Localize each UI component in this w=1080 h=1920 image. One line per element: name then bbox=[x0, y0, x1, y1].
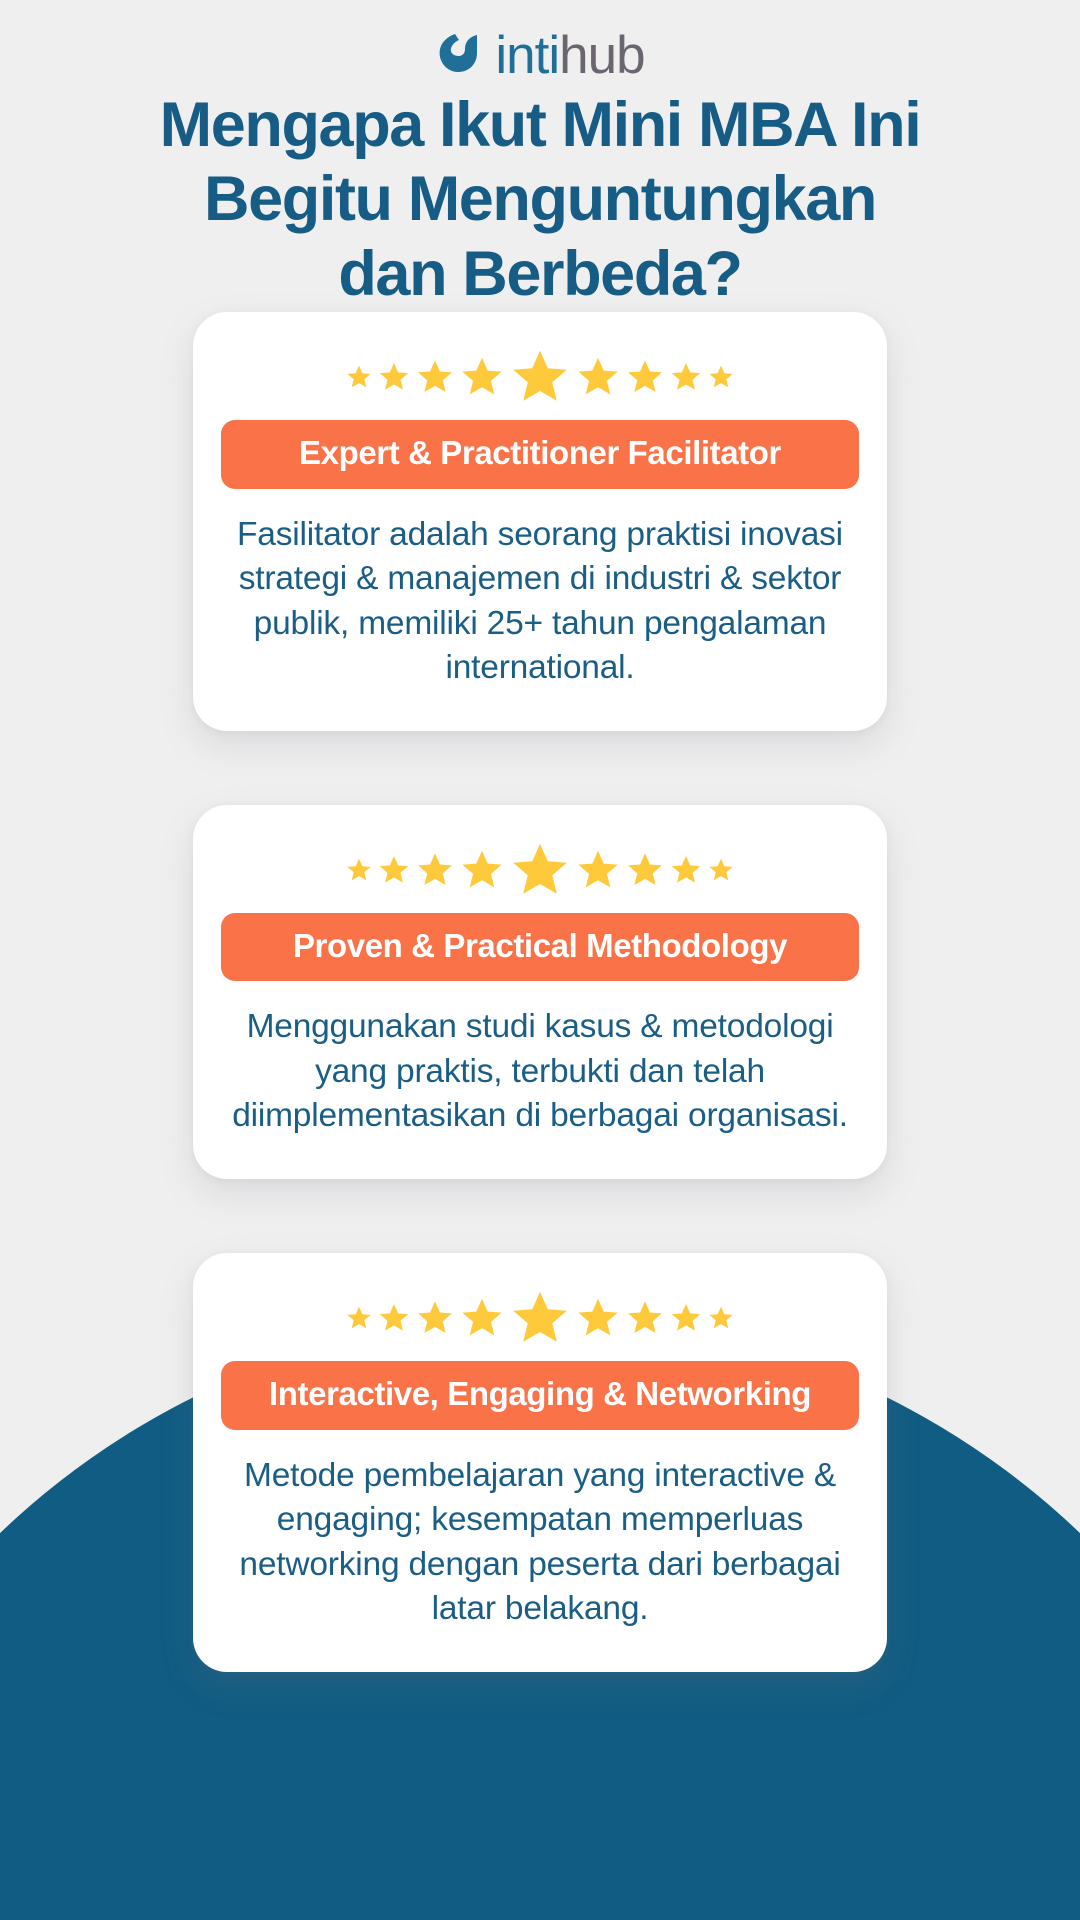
star-icon bbox=[708, 1305, 734, 1331]
star-icon bbox=[346, 857, 372, 883]
star-icon bbox=[346, 364, 372, 390]
benefit-description: Fasilitator adalah seorang praktisi inov… bbox=[221, 513, 859, 691]
brand-logo-inti: inti bbox=[495, 29, 559, 82]
star-icon bbox=[708, 364, 734, 390]
star-rating bbox=[346, 839, 734, 901]
headline-line-2: Begitu Menguntungkan bbox=[204, 164, 876, 234]
star-rating bbox=[346, 1287, 734, 1349]
star-icon bbox=[510, 347, 570, 407]
page-title: Mengapa Ikut Mini MBA Ini Begitu Mengunt… bbox=[0, 88, 1080, 311]
benefit-description: Metode pembelajaran yang interactive & e… bbox=[221, 1454, 859, 1632]
star-icon bbox=[708, 857, 734, 883]
headline-line-1: Mengapa Ikut Mini MBA Ini bbox=[160, 90, 921, 160]
star-icon bbox=[378, 854, 410, 886]
benefit-card: Expert & Practitioner Facilitator Fasili… bbox=[193, 312, 887, 731]
benefit-banner-title: Proven & Practical Methodology bbox=[221, 913, 859, 982]
star-icon bbox=[378, 1302, 410, 1334]
star-icon bbox=[510, 840, 570, 900]
benefit-card: Proven & Practical Methodology Menggunak… bbox=[193, 805, 887, 1179]
brand-logo-text: intihub bbox=[495, 29, 644, 82]
star-icon bbox=[460, 1296, 504, 1340]
benefit-description: Menggunakan studi kasus & metodologi yan… bbox=[221, 1005, 859, 1139]
star-icon bbox=[576, 1296, 620, 1340]
benefit-card-list: Expert & Practitioner Facilitator Fasili… bbox=[0, 312, 1080, 1672]
benefit-banner-title: Expert & Practitioner Facilitator bbox=[221, 420, 859, 489]
star-icon bbox=[626, 1299, 664, 1337]
star-icon bbox=[576, 848, 620, 892]
star-icon bbox=[460, 355, 504, 399]
star-icon bbox=[416, 851, 454, 889]
circle-swirl-icon bbox=[435, 26, 489, 85]
benefit-banner-title: Interactive, Engaging & Networking bbox=[221, 1361, 859, 1430]
benefit-card: Interactive, Engaging & Networking Metod… bbox=[193, 1253, 887, 1672]
star-rating bbox=[346, 346, 734, 408]
star-icon bbox=[626, 358, 664, 396]
brand-logo-hub: hub bbox=[559, 29, 644, 82]
brand-logo: intihub bbox=[0, 26, 1080, 85]
star-icon bbox=[416, 1299, 454, 1337]
star-icon bbox=[670, 854, 702, 886]
poster-root: intihub Mengapa Ikut Mini MBA Ini Begitu… bbox=[0, 0, 1080, 1920]
star-icon bbox=[510, 1288, 570, 1348]
star-icon bbox=[416, 358, 454, 396]
star-icon bbox=[346, 1305, 372, 1331]
star-icon bbox=[670, 1302, 702, 1334]
star-icon bbox=[460, 848, 504, 892]
star-icon bbox=[378, 361, 410, 393]
star-icon bbox=[670, 361, 702, 393]
star-icon bbox=[576, 355, 620, 399]
headline-line-3: dan Berbeda? bbox=[338, 239, 741, 309]
star-icon bbox=[626, 851, 664, 889]
